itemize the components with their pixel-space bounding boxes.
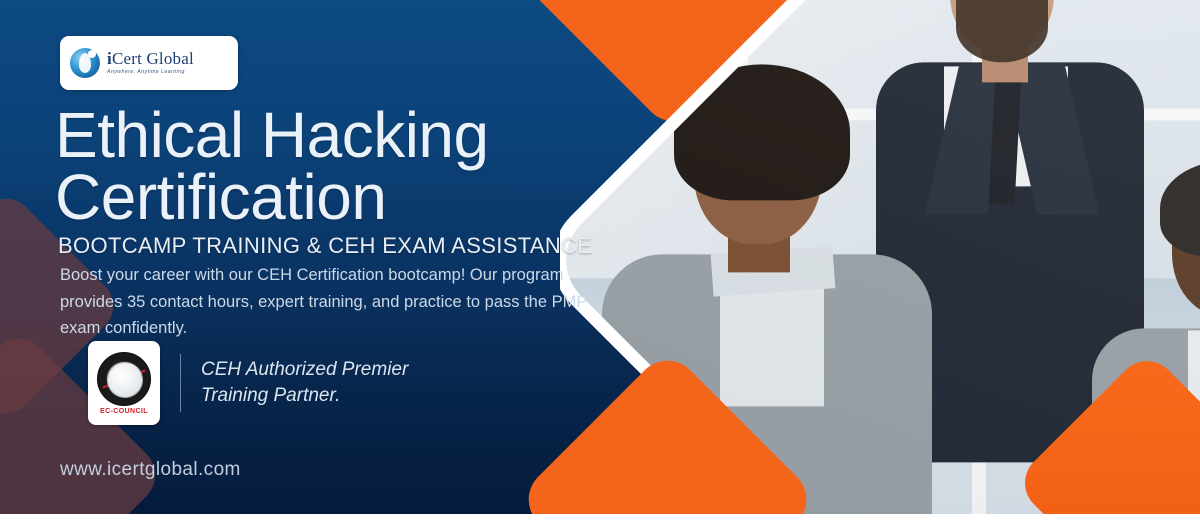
bottom-white-strip (0, 514, 1200, 520)
body-copy: Boost your career with our CEH Certifica… (60, 262, 605, 342)
headline-line-2: Certification (55, 166, 635, 228)
content-column: iCert Global Anywhere, Anytime Learning … (0, 0, 640, 520)
vertical-divider (180, 354, 181, 412)
logo-tagline: Anywhere, Anytime Learning (107, 70, 194, 75)
subheadline: BOOTCAMP TRAINING & CEH EXAM ASSISTANCE (58, 233, 592, 259)
headline-line-1: Ethical Hacking (55, 104, 635, 166)
logo-wordmark: iCert Global (107, 50, 194, 67)
partner-statement: CEH Authorized Premier Training Partner. (201, 357, 408, 409)
ec-council-seal-icon: EC-COUNCIL (88, 341, 160, 425)
icert-globe-icon (70, 48, 100, 78)
partner-line-1: CEH Authorized Premier (201, 357, 408, 383)
logo-wordmark-rest: Cert Global (112, 49, 194, 68)
logo-text: iCert Global Anywhere, Anytime Learning (107, 50, 194, 75)
ec-council-ring (97, 352, 151, 406)
promo-banner: iCert Global Anywhere, Anytime Learning … (0, 0, 1200, 520)
ec-council-label: EC-COUNCIL (100, 408, 148, 415)
page-title: Ethical Hacking Certification (55, 104, 635, 228)
partner-line-2: Training Partner. (201, 383, 408, 409)
accreditation-row: EC-COUNCIL CEH Authorized Premier Traini… (88, 341, 408, 425)
logo-card[interactable]: iCert Global Anywhere, Anytime Learning (60, 36, 238, 90)
website-url[interactable]: www.icertglobal.com (60, 459, 241, 481)
